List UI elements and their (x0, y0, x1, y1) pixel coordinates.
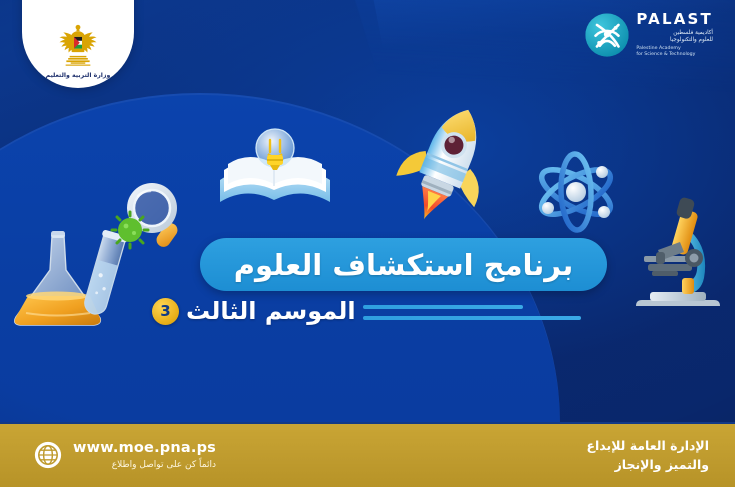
website-tagline: دائماً كن على تواصل واطلاع (73, 460, 216, 470)
palast-logo: PALAST أكاديمية فلسطين للعلوم والتكنولوج… (584, 12, 713, 58)
palast-atom-swirl-mark (584, 12, 630, 58)
palast-wordmark: PALAST (636, 12, 713, 27)
poster-canvas: وزارة التربية والتعليم PALAST (0, 0, 735, 487)
palast-arabic-line-2: للعلوم والتكنولوجيا (636, 37, 713, 44)
magnifying-glass-with-microbe (108, 178, 196, 258)
palast-english-line-2: for Science & Technology (636, 52, 713, 58)
palestine-eagle-emblem (56, 22, 100, 70)
department-line-1: الإدارة العامة للإبداع (586, 437, 709, 455)
footer-website-block[interactable]: www.moe.pna.ps دائماً كن على تواصل واطلا… (34, 440, 216, 470)
decorative-rule-top (363, 305, 524, 309)
open-book-with-lightbulb (212, 126, 340, 222)
atom (528, 146, 624, 238)
season-decorative-rules (363, 303, 592, 320)
season-number-badge: 3 (152, 298, 179, 325)
ministry-logo-panel: وزارة التربية والتعليم (22, 0, 134, 88)
season-title-text: الموسم الثالث (186, 297, 356, 325)
department-line-2: والتميز والإنجاز (586, 456, 709, 474)
program-title-banner: برنامج استكشاف العلوم (200, 238, 607, 291)
decorative-rule-bottom (363, 316, 581, 320)
ministry-name-label: وزارة التربية والتعليم (46, 72, 111, 79)
globe-icon (34, 441, 62, 469)
palast-arabic-name: أكاديمية فلسطين للعلوم والتكنولوجيا (636, 30, 713, 44)
department-name: الإدارة العامة للإبداع والتميز والإنجاز (586, 437, 709, 473)
rocket (392, 102, 502, 228)
footer-bar: www.moe.pna.ps دائماً كن على تواصل واطلا… (0, 422, 735, 487)
website-url[interactable]: www.moe.pna.ps (73, 440, 216, 457)
microscope (632, 196, 724, 314)
palast-english-name: Palestine Academy for Science & Technolo… (636, 46, 713, 58)
season-row: 3 الموسم الثالث (152, 294, 592, 328)
program-title-text: برنامج استكشاف العلوم (234, 248, 573, 282)
